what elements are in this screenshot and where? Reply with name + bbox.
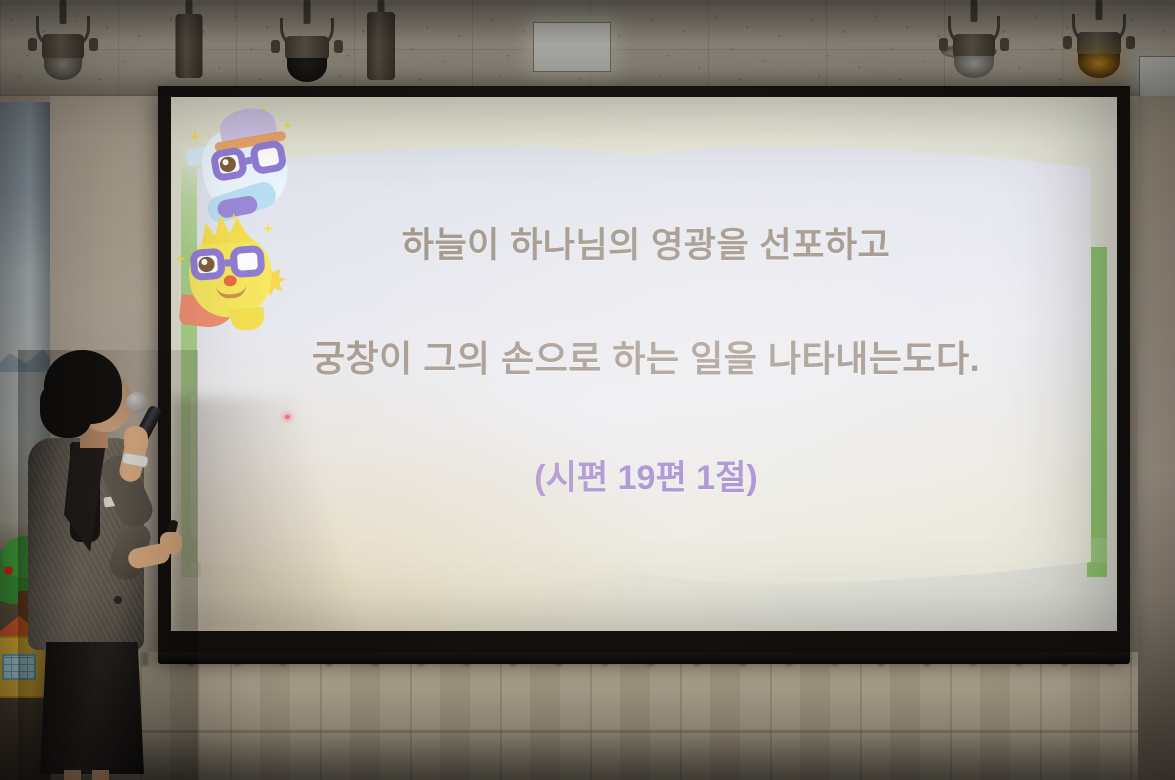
- presenter-mic-hand: [124, 426, 148, 452]
- projection-screen-frame: 하늘이 하나님의 영광을 선포하고 궁창이 그의 손으로 하는 일을 나타내는도…: [158, 86, 1130, 658]
- ceiling-light-panel-right: [1139, 56, 1175, 100]
- presenter-woman: [18, 350, 198, 780]
- presenter-lower-hand: [160, 532, 182, 554]
- presentation-slide: 하늘이 하나님의 영광을 선포하고 궁창이 그의 손으로 하는 일을 나타내는도…: [171, 97, 1117, 631]
- presenter-jacket-button: [114, 596, 122, 604]
- track-light-6: [1062, 0, 1136, 86]
- photo-scene: 하늘이 하나님의 영광을 선포하고 궁창이 그의 손으로 하는 일을 나타내는도…: [0, 0, 1175, 780]
- presenter-leg: [92, 770, 109, 780]
- track-light-5: [938, 0, 1010, 84]
- projection-screen-surface: 하늘이 하나님의 영광을 선포하고 궁창이 그의 손으로 하는 일을 나타내는도…: [171, 97, 1117, 631]
- microphone-head-icon: [126, 392, 148, 413]
- mural-top-rail: [0, 96, 50, 102]
- presenter-skirt: [40, 642, 144, 774]
- track-light-3: [270, 0, 344, 86]
- right-wall: [1138, 96, 1175, 780]
- track-light-2: [164, 0, 214, 82]
- ceiling-light-panel-left: [533, 22, 611, 72]
- presenter-cast-shadow: [171, 397, 381, 631]
- track-light-4: [356, 0, 406, 84]
- presenter-hair: [44, 350, 122, 424]
- presenter-leg: [64, 770, 81, 780]
- track-light-1: [28, 0, 98, 80]
- beige-curtain-wall: [50, 652, 1138, 780]
- curtain-bottom-shade: [50, 728, 1138, 780]
